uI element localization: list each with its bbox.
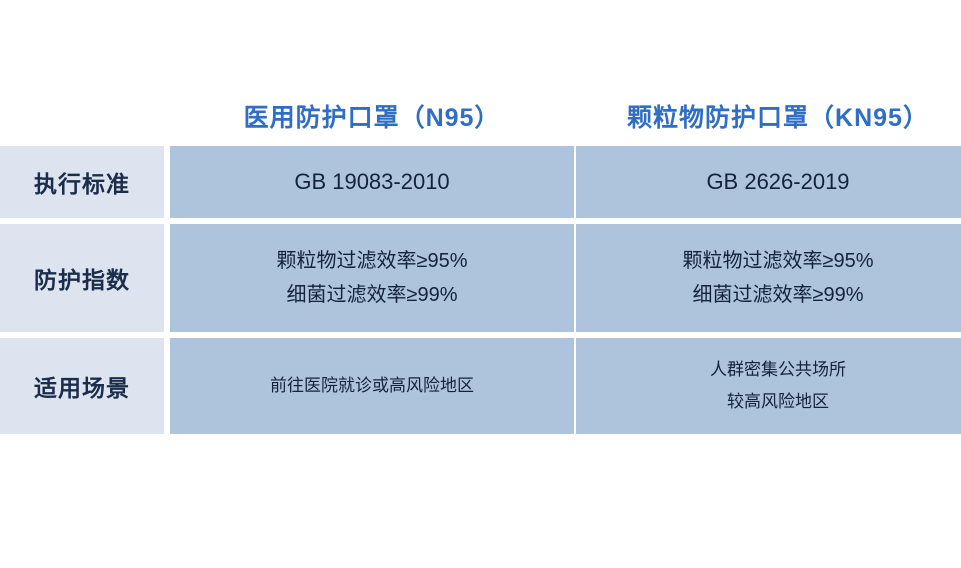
- table-row: 执行标准 GB 19083-2010 GB 2626-2019: [0, 146, 961, 218]
- cell-use-case-kn95: 人群密集公共场所 较高风险地区: [576, 338, 961, 434]
- cell-protection-index-n95: 颗粒物过滤效率≥95% 细菌过滤效率≥99%: [170, 224, 574, 332]
- row-label-protection-index: 防护指数: [0, 224, 164, 332]
- cell-protection-index-kn95: 颗粒物过滤效率≥95% 细菌过滤效率≥99%: [576, 224, 961, 332]
- cell-text: GB 19083-2010: [294, 167, 449, 197]
- cell-text-line: 较高风险地区: [727, 386, 829, 418]
- column-header-kn95: 颗粒物防护口罩（KN95）: [576, 96, 961, 140]
- cell-use-case-n95: 前往医院就诊或高风险地区: [170, 338, 574, 434]
- cell-text-line: 人群密集公共场所: [710, 354, 846, 386]
- cell-standard-n95: GB 19083-2010: [170, 146, 574, 218]
- cell-text-line: 颗粒物过滤效率≥95%: [682, 244, 873, 278]
- table-row: 防护指数 颗粒物过滤效率≥95% 细菌过滤效率≥99% 颗粒物过滤效率≥95% …: [0, 224, 961, 332]
- cell-text-line: 细菌过滤效率≥99%: [286, 278, 457, 312]
- row-label-use-case: 适用场景: [0, 338, 164, 434]
- comparison-table-page: 医用防护口罩（N95） 颗粒物防护口罩（KN95） 执行标准 GB 19083-…: [0, 0, 961, 568]
- comparison-table: 执行标准 GB 19083-2010 GB 2626-2019 防护指数 颗粒物…: [0, 146, 961, 440]
- cell-text-line: 颗粒物过滤效率≥95%: [276, 244, 467, 278]
- cell-text-line: 细菌过滤效率≥99%: [692, 278, 863, 312]
- column-headers: 医用防护口罩（N95） 颗粒物防护口罩（KN95）: [0, 96, 961, 140]
- cell-text: GB 2626-2019: [706, 167, 849, 197]
- table-row: 适用场景 前往医院就诊或高风险地区 人群密集公共场所 较高风险地区: [0, 338, 961, 434]
- cell-standard-kn95: GB 2626-2019: [576, 146, 961, 218]
- cell-text-line: 前往医院就诊或高风险地区: [270, 370, 474, 402]
- row-label-standard: 执行标准: [0, 146, 164, 218]
- column-header-n95: 医用防护口罩（N95）: [170, 96, 574, 140]
